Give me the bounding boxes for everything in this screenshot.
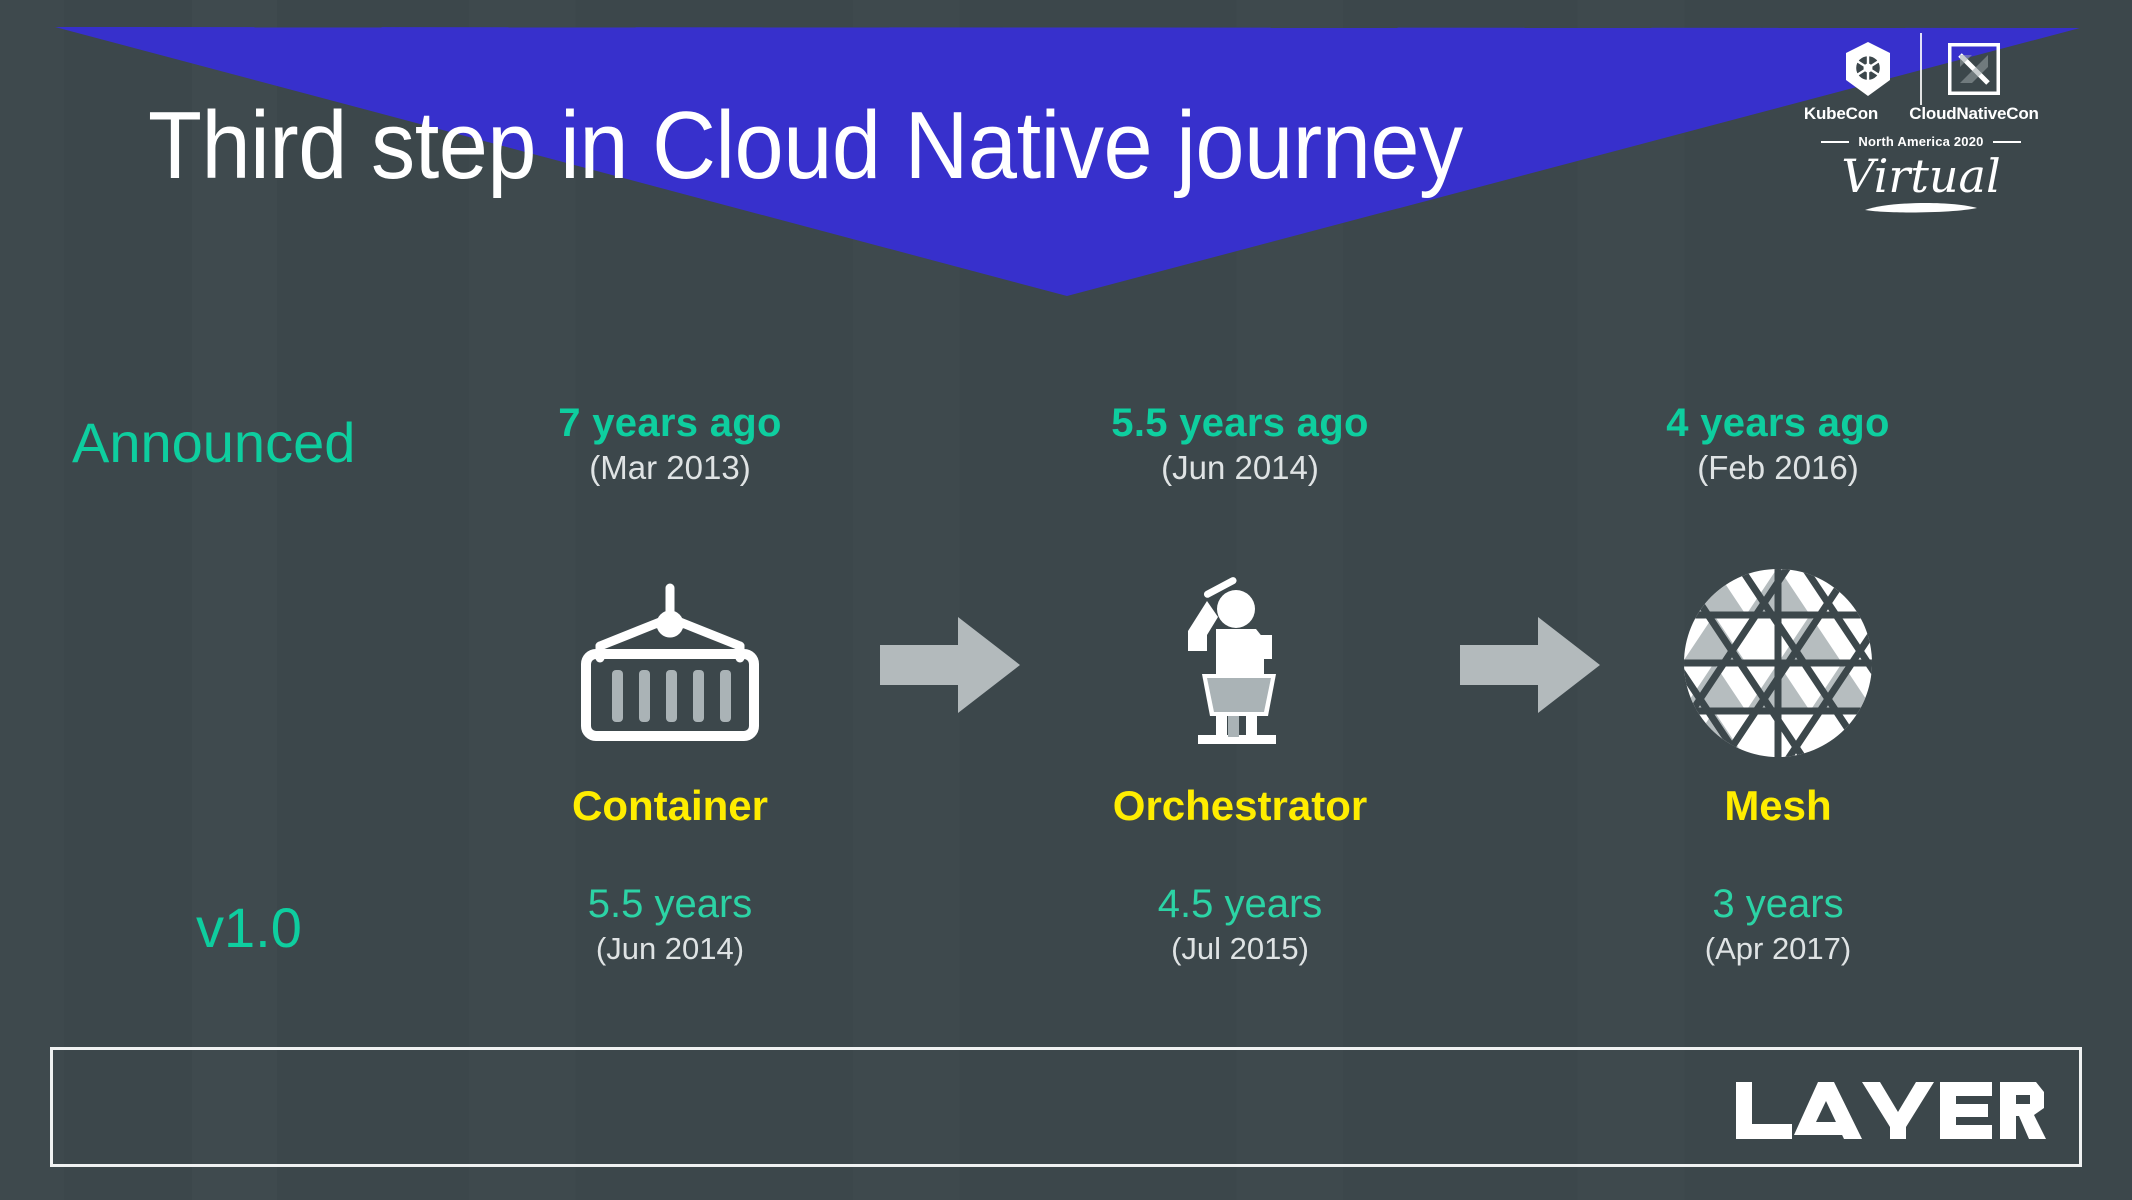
- tech-name-cell-orchestrator: Orchestrator: [1030, 782, 1450, 830]
- slide-canvas: Third step in Cloud Native journey: [0, 0, 2132, 1200]
- tech-name: Mesh: [1568, 782, 1988, 830]
- orchestra-conductor-icon: [1030, 565, 1450, 760]
- arrow-right-icon: [880, 615, 1020, 715]
- tech-name-cell-mesh: Mesh: [1568, 782, 1988, 830]
- announced-years: 5.5 years ago: [1030, 400, 1450, 446]
- layer5-logo: [1736, 1082, 2046, 1140]
- logo-edition-row: North America 2020: [1792, 134, 2050, 149]
- v1-years: 5.5 years: [460, 880, 880, 928]
- swash-underline-icon: [1861, 199, 1981, 215]
- v1-cell-orchestrator: 4.5 years (Jul 2015): [1030, 880, 1450, 970]
- tech-name-cell-container: Container: [460, 782, 880, 830]
- kubecon-icon: [1820, 40, 1916, 98]
- edition-label: North America 2020: [1858, 134, 1983, 149]
- mesh-triangles-circle-icon: [1568, 565, 1988, 760]
- icon-cell-orchestrator: [1030, 565, 1450, 760]
- v1-cell-mesh: 3 years (Apr 2017): [1568, 880, 1988, 970]
- rule-right: [1993, 141, 2021, 143]
- announced-years: 4 years ago: [1568, 400, 1988, 446]
- row-label-announced: Announced: [72, 410, 355, 475]
- icon-cell-container: [460, 565, 880, 760]
- virtual-label: Virtual: [1792, 151, 2050, 202]
- announced-date: (Jun 2014): [1030, 446, 1450, 491]
- announced-cell-container: 7 years ago (Mar 2013): [460, 400, 880, 491]
- announced-date: (Feb 2016): [1568, 446, 1988, 491]
- logo-names: KubeCon CloudNativeCon: [1792, 104, 2050, 124]
- kubecon-cloudnativecon-logo: KubeCon CloudNativeCon North America 202…: [1792, 40, 2050, 220]
- logo-marks: [1792, 40, 2050, 98]
- cloudnativecon-icon: [1926, 43, 2022, 95]
- page-title: Third step in Cloud Native journey: [148, 98, 1463, 194]
- v1-years: 3 years: [1568, 880, 1988, 928]
- logo-divider: [1920, 33, 1922, 105]
- tech-name: Orchestrator: [1030, 782, 1450, 830]
- announced-cell-orchestrator: 5.5 years ago (Jun 2014): [1030, 400, 1450, 491]
- v1-cell-container: 5.5 years (Jun 2014): [460, 880, 880, 970]
- v1-date: (Jul 2015): [1030, 928, 1450, 970]
- row-label-v1: v1.0: [196, 895, 302, 960]
- v1-date: (Apr 2017): [1568, 928, 1988, 970]
- cloudnativecon-label: CloudNativeCon: [1899, 104, 2049, 124]
- v1-years: 4.5 years: [1030, 880, 1450, 928]
- v1-date: (Jun 2014): [460, 928, 880, 970]
- icon-cell-mesh: [1568, 565, 1988, 760]
- kubecon-label: KubeCon: [1793, 104, 1889, 124]
- tech-name: Container: [460, 782, 880, 830]
- announced-date: (Mar 2013): [460, 446, 880, 491]
- shipping-container-icon: [460, 565, 880, 760]
- rule-left: [1821, 141, 1849, 143]
- announced-cell-mesh: 4 years ago (Feb 2016): [1568, 400, 1988, 491]
- announced-years: 7 years ago: [460, 400, 880, 446]
